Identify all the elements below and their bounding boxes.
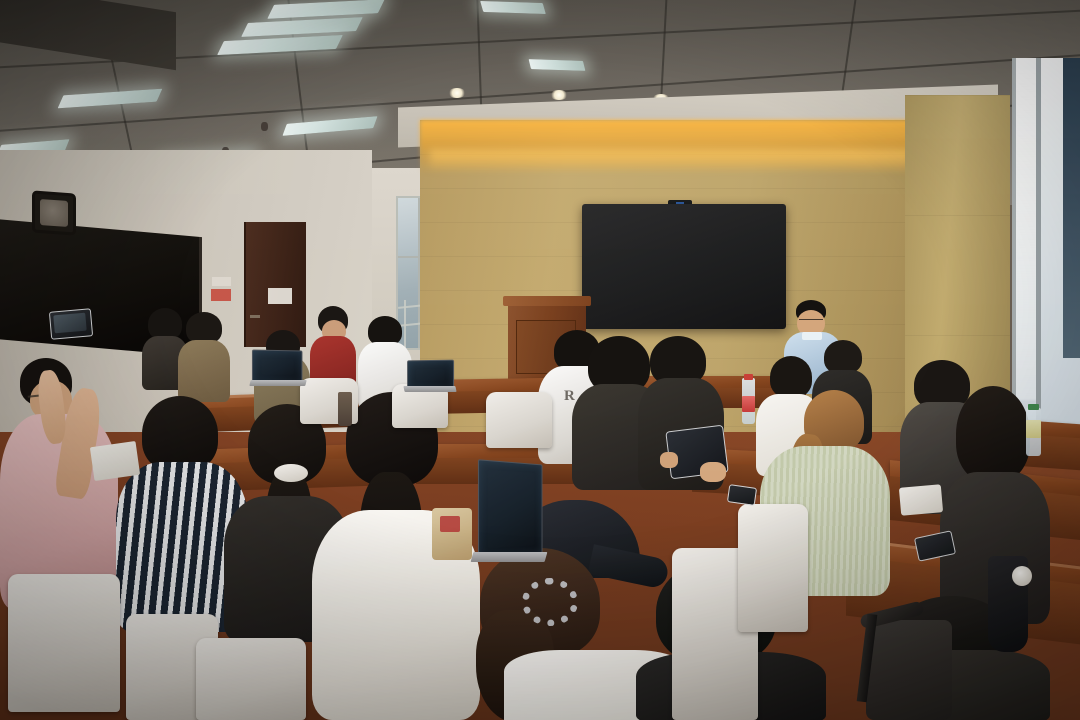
bag-charm-icon (1012, 566, 1032, 586)
wall-notice-red (211, 289, 231, 301)
wall-notice-white (212, 277, 231, 286)
lectern-top (503, 296, 591, 306)
chair[interactable] (738, 504, 808, 632)
bottle-label (1026, 420, 1041, 438)
wall-clock (32, 190, 76, 235)
door-notice-sign (268, 288, 292, 304)
smartphone[interactable] (727, 484, 757, 506)
bottle-cap (744, 374, 753, 380)
beaded-hair-tie (522, 578, 578, 626)
cove-light-glow-soft (430, 150, 910, 172)
ceiling-light (58, 89, 163, 109)
bag-logo (440, 516, 460, 532)
water-bottle[interactable] (338, 392, 352, 426)
glasses-icon (799, 319, 823, 325)
hair-scrunchie (274, 464, 308, 482)
lecture-hall-photo: 数字化建设与应用的整体文化进行 数字化应用场景应用探索及前景展望 新兴数据库技术… (0, 0, 1080, 720)
ceiling-light (241, 17, 363, 37)
bottle-label (742, 396, 755, 412)
clock-face (40, 199, 68, 227)
laptop-base (403, 386, 456, 392)
door-handle[interactable] (250, 315, 260, 318)
ceiling-light (529, 59, 586, 71)
attendee (178, 312, 230, 400)
collar (802, 332, 822, 340)
ceiling-light (267, 0, 385, 19)
ceiling-air-vent (0, 0, 176, 70)
phone-screen (53, 313, 86, 334)
ceiling-light (282, 116, 377, 136)
hair (956, 386, 1030, 482)
chair[interactable] (486, 392, 552, 448)
chair[interactable] (8, 574, 120, 712)
chair[interactable] (196, 638, 306, 720)
recessed-downlight (448, 88, 466, 98)
notebook (90, 441, 140, 481)
hair (142, 396, 218, 472)
window-outside-view (1063, 58, 1080, 358)
hand (660, 452, 678, 468)
paper-stack (899, 484, 943, 516)
laptop-screen[interactable] (478, 459, 542, 559)
laptop-base (471, 552, 548, 562)
torso (178, 340, 230, 402)
hair (824, 340, 862, 374)
recessed-downlight (550, 90, 568, 100)
wall-display[interactable]: 数字化建设与应用的整体文化进行 数字化应用场景应用探索及前景展望 新兴数据库技术… (582, 204, 786, 329)
office-chair[interactable] (866, 620, 952, 720)
hand (700, 462, 726, 482)
bottle-cap (1028, 404, 1039, 410)
ceiling-light (480, 1, 546, 14)
laptop-base (249, 380, 306, 386)
attendee-photographing (0, 352, 132, 612)
entry-door[interactable] (244, 222, 306, 347)
